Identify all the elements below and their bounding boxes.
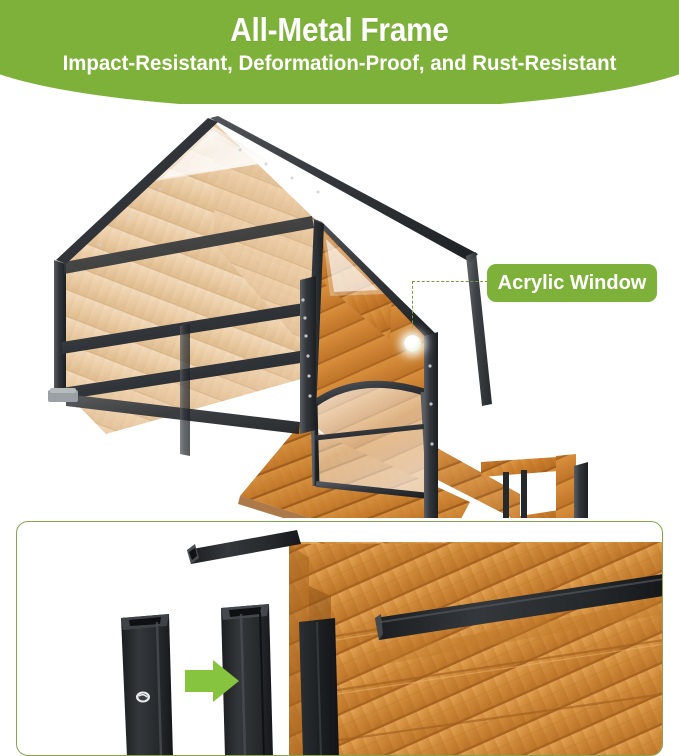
page-title: All-Metal Frame xyxy=(34,13,645,47)
inset-panel-frame-detail xyxy=(16,521,663,756)
dog-house-illustration xyxy=(0,104,679,518)
callout-label: Acrylic Window xyxy=(498,272,647,295)
metal-rail-top xyxy=(187,530,301,564)
banner-text-block: All-Metal Frame Impact-Resistant, Deform… xyxy=(0,0,679,76)
frame-assembly-illustration xyxy=(17,522,663,756)
callout-marker-dot xyxy=(404,335,421,352)
wood-wall-closeup xyxy=(289,542,663,756)
front-door-acrylic xyxy=(314,384,430,496)
product-photo-main: Acrylic Window xyxy=(0,104,679,518)
metal-post-loose xyxy=(121,614,173,756)
callout-badge-acrylic-window: Acrylic Window xyxy=(487,264,657,302)
callout-leader-vertical xyxy=(412,281,413,343)
metal-post-in-channel xyxy=(299,618,339,756)
callout-leader-horizontal xyxy=(412,281,488,282)
header-banner: All-Metal Frame Impact-Resistant, Deform… xyxy=(0,0,679,108)
screw-head xyxy=(136,692,150,703)
page-subtitle: Impact-Resistant, Deformation-Proof, and… xyxy=(17,51,662,76)
gable-window-highlight-right xyxy=(326,239,378,292)
